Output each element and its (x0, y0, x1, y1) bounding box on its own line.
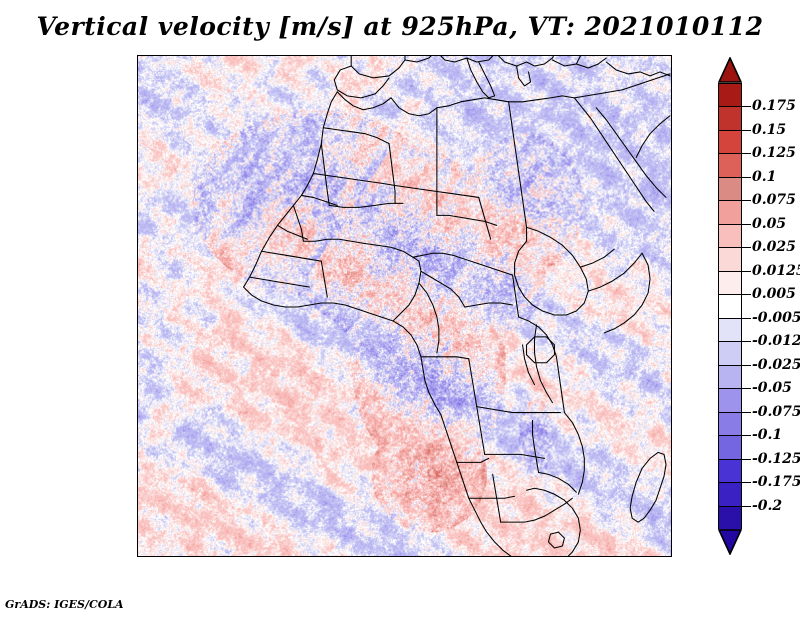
colorbar-tick-leader (742, 106, 751, 107)
colorbar-tick-label: 0.15 (752, 122, 786, 138)
x-tick-10w (260, 556, 261, 557)
colorbar-tick-leader (742, 365, 751, 366)
colorbar-tick-leader (742, 130, 751, 131)
colorbar-tick-leader (742, 388, 751, 389)
colorbar-tick-label: -0.0125 (752, 333, 800, 349)
colorbar-swatch (719, 295, 741, 318)
colorbar-tick-label: 0.1 (752, 169, 776, 185)
colorbar (718, 57, 742, 555)
colorbar-swatch (719, 483, 741, 506)
x-tick-0 (308, 556, 309, 557)
colorbar-swatch (719, 178, 741, 201)
colorbar-swatch (719, 107, 741, 130)
map-plot-area: 40N30N20N10NEQ10S20S30S40S30W20W10W010E2… (137, 55, 672, 557)
x-tick-60e (600, 556, 601, 557)
y-tick-10s (137, 381, 138, 382)
colorbar-swatch (719, 507, 741, 530)
colorbar-tick-label: -0.1 (752, 427, 782, 443)
colorbar-swatch (719, 248, 741, 271)
colorbar-tick-label: -0.005 (752, 310, 800, 326)
colorbar-tick-leader (742, 482, 751, 483)
colorbar-tick-label: -0.125 (752, 451, 800, 467)
colorbar-tick-label: 0.075 (752, 192, 796, 208)
colorbar-tick-leader (742, 247, 751, 248)
colorbar-tick-leader (742, 177, 751, 178)
colorbar-tick-leader (742, 435, 751, 436)
y-tick-40n (137, 86, 138, 87)
colorbar-tick-label: 0.125 (752, 145, 796, 161)
colorbar-max-arrow (718, 57, 742, 83)
colorbar-tick-label: 0.025 (752, 239, 796, 255)
colorbar-swatch (719, 319, 741, 342)
colorbar-swatch (719, 436, 741, 459)
colorbar-swatch (719, 84, 741, 107)
colorbar-tick-label: 0.175 (752, 98, 796, 114)
colorbar-swatch (719, 460, 741, 483)
colorbar-swatch (719, 225, 741, 248)
colorbar-tick-leader (742, 224, 751, 225)
y-tick-20s (137, 440, 138, 441)
colorbar-swatch (719, 131, 741, 154)
coastline-overlay (138, 56, 671, 556)
colorbar-tick-label: -0.075 (752, 404, 800, 420)
colorbar-tick-leader (742, 294, 751, 295)
colorbar-tick-label: 0.05 (752, 216, 786, 232)
page-title: Vertical velocity [m/s] at 925hPa, VT: 2… (0, 12, 800, 41)
attribution-footer: GrADS: IGES/COLA (5, 598, 124, 611)
y-tick-20n (137, 204, 138, 205)
colorbar-swatches (718, 83, 742, 529)
colorbar-swatch (719, 413, 741, 436)
x-tick-40e (503, 556, 504, 557)
colorbar-min-arrow (718, 529, 742, 555)
colorbar-swatch (719, 272, 741, 295)
x-tick-10e (357, 556, 358, 557)
colorbar-tick-leader (742, 341, 751, 342)
colorbar-swatch (719, 342, 741, 365)
y-tick-eq (137, 322, 138, 323)
x-tick-30w (162, 556, 163, 557)
colorbar-swatch (719, 389, 741, 412)
vertical-velocity-field (138, 56, 671, 556)
y-tick-10n (137, 263, 138, 264)
colorbar-tick-label: -0.2 (752, 498, 782, 514)
colorbar-swatch (719, 201, 741, 224)
colorbar-tick-label: -0.175 (752, 474, 800, 490)
colorbar-swatch (719, 366, 741, 389)
x-tick-20w (211, 556, 212, 557)
x-tick-30e (454, 556, 455, 557)
colorbar-tick-leader (742, 412, 751, 413)
x-tick-20e (406, 556, 407, 557)
colorbar-tick-label: -0.05 (752, 380, 792, 396)
colorbar-tick-label: 0.005 (752, 286, 796, 302)
colorbar-tick-leader (742, 153, 751, 154)
colorbar-tick-leader (742, 200, 751, 201)
colorbar-tick-leader (742, 459, 751, 460)
colorbar-tick-label: -0.025 (752, 357, 800, 373)
grads-figure: Vertical velocity [m/s] at 925hPa, VT: 2… (0, 0, 800, 618)
colorbar-tick-leader (742, 318, 751, 319)
colorbar-tick-leader (742, 506, 751, 507)
x-tick-50e (551, 556, 552, 557)
colorbar-swatch (719, 154, 741, 177)
y-tick-30n (137, 145, 138, 146)
colorbar-tick-label: 0.0125 (752, 263, 800, 279)
x-tick-70e (649, 556, 650, 557)
y-tick-30s (137, 499, 138, 500)
colorbar-tick-leader (742, 271, 751, 272)
